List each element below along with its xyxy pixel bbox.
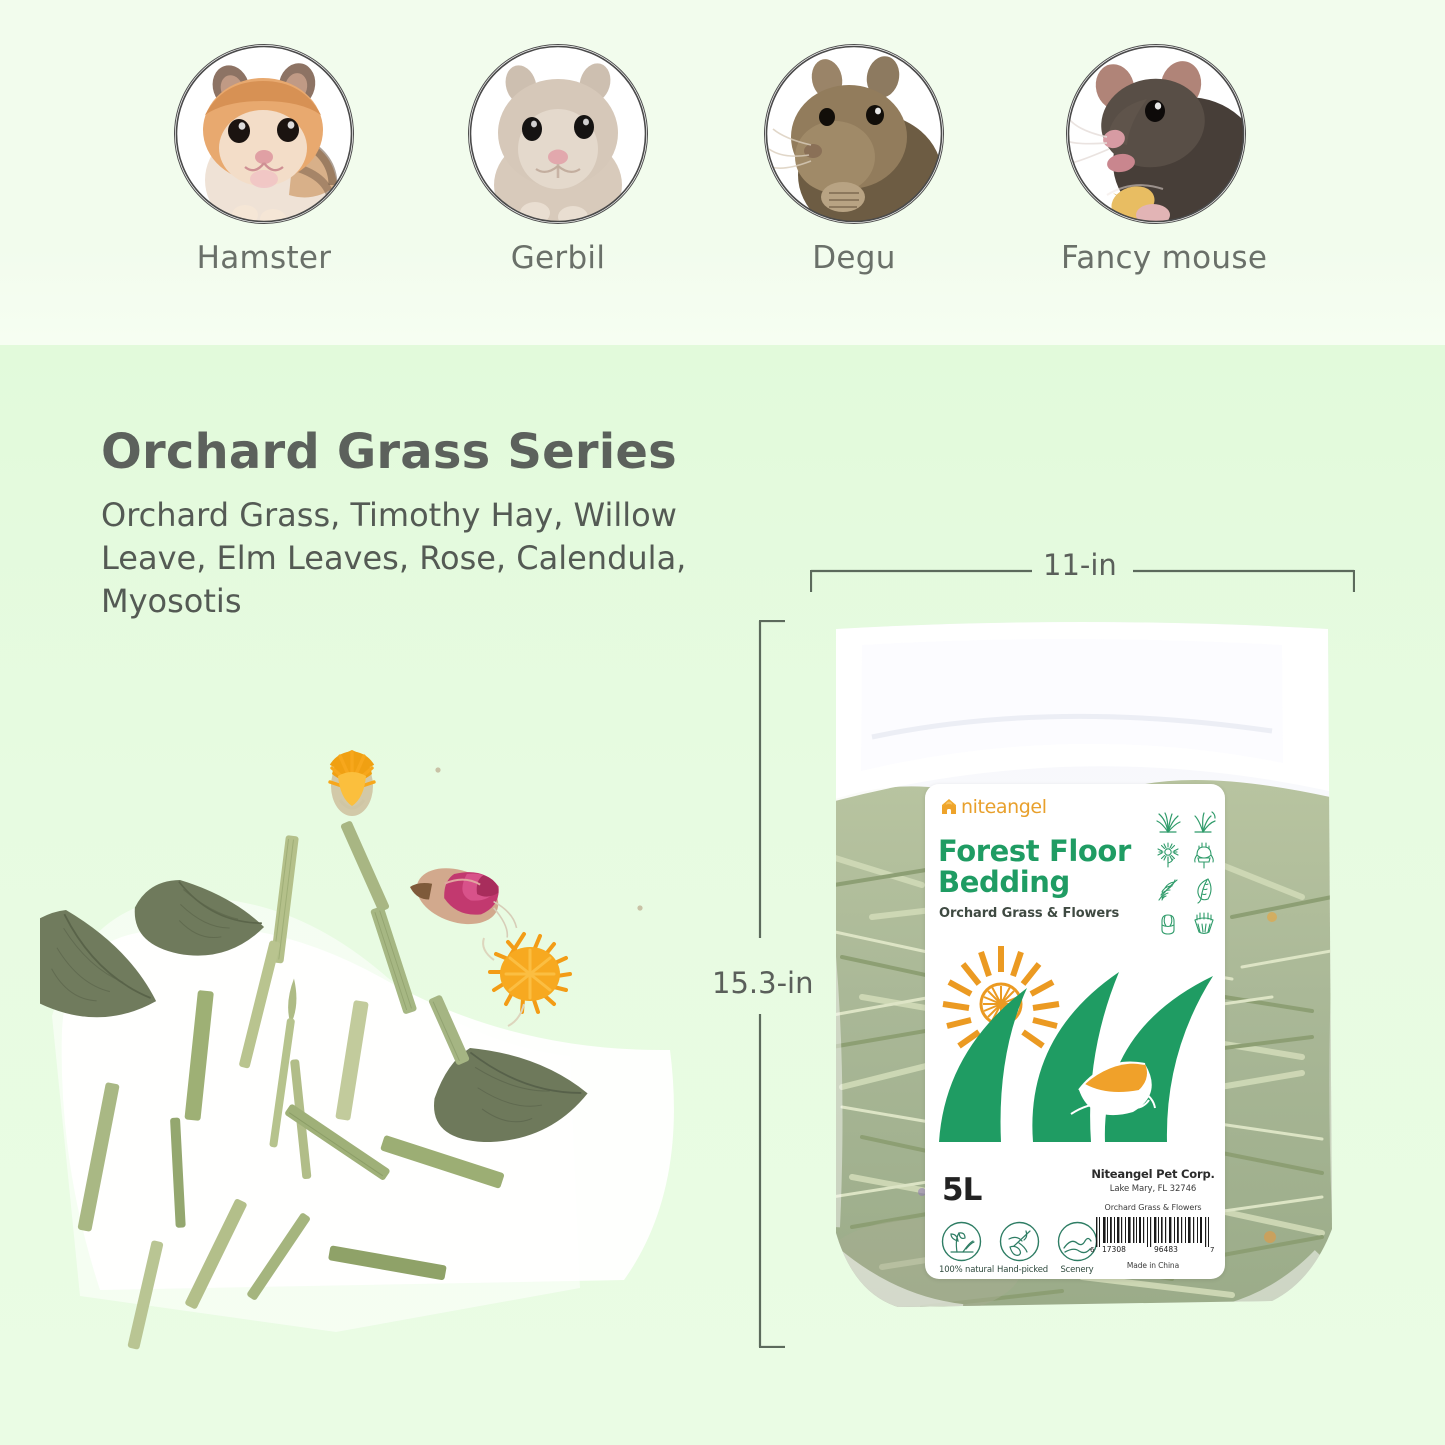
hamster-photo <box>174 44 354 224</box>
brand-name: niteangel <box>961 796 1047 818</box>
animal-item-degu: Degu <box>759 44 949 276</box>
svg-text:6: 6 <box>1090 1246 1095 1253</box>
corporate-info: Niteangel Pet Corp. Lake Mary, FL 32746 … <box>1090 1167 1216 1270</box>
animal-label: Fancy mouse <box>1061 240 1251 276</box>
hand-picking-icon <box>999 1221 1040 1262</box>
degu-photo <box>764 44 944 224</box>
thistle-flower-icon <box>1190 841 1218 869</box>
svg-text:17308: 17308 <box>1102 1245 1126 1253</box>
elm-leaf-icon <box>1190 876 1218 904</box>
ingredient-icon-grid <box>1154 806 1218 939</box>
animal-item-fancy-mouse: Fancy mouse <box>1061 44 1251 276</box>
origin-text: Made in China <box>1090 1261 1216 1270</box>
product-title: Forest Floor Bedding <box>938 836 1131 898</box>
label-artwork <box>929 936 1221 1161</box>
badge-label: Hand-picked <box>997 1265 1041 1275</box>
animal-label: Hamster <box>169 240 359 276</box>
barcode: 6 17308 96483 7 <box>1090 1217 1216 1257</box>
badge-label: 100% natural <box>939 1265 983 1275</box>
brand-logo: niteangel <box>939 796 1047 818</box>
product-infographic: Hamster <box>0 0 1445 1445</box>
ingredients-description: Orchard Grass, Timothy Hay, Willow Leave… <box>101 494 701 623</box>
niteangel-mark-icon <box>939 798 959 816</box>
gerbil-photo <box>468 44 648 224</box>
svg-text:96483: 96483 <box>1154 1245 1178 1253</box>
width-dimension-label: 11-in <box>1043 548 1117 582</box>
rose-bud-icon <box>1154 911 1182 939</box>
page-title: Orchard Grass Series <box>101 424 677 480</box>
product-label: niteangel Forest Floor Bedding Orchard G… <box>925 784 1225 1279</box>
badge-natural: 100% natural <box>939 1221 983 1275</box>
animal-label: Gerbil <box>463 240 653 276</box>
willow-branch-icon <box>1154 876 1182 904</box>
animal-item-hamster: Hamster <box>169 44 359 276</box>
animal-row: Hamster <box>0 0 1445 345</box>
animal-item-gerbil: Gerbil <box>463 44 653 276</box>
corp-name: Niteangel Pet Corp. <box>1090 1167 1216 1181</box>
pet-compatibility-band: Hamster <box>0 0 1445 345</box>
corp-address: Lake Mary, FL 32746 <box>1090 1184 1216 1194</box>
calendula-icon <box>1190 911 1218 939</box>
sprout-in-circle-icon <box>941 1221 982 1262</box>
product-subtitle: Orchard Grass & Flowers <box>939 906 1119 921</box>
grass-tuft-icon <box>1154 806 1182 834</box>
variant-text: Orchard Grass & Flowers <box>1090 1203 1216 1212</box>
product-title-line1: Forest Floor <box>938 836 1131 867</box>
ingredients-photo <box>40 730 700 1380</box>
dandelion-flower-icon <box>1154 841 1182 869</box>
svg-text:7: 7 <box>1210 1246 1214 1253</box>
badge-handpicked: Hand-picked <box>997 1221 1041 1275</box>
height-dimension-label: 15.3-in <box>712 966 813 1000</box>
grass-blades-icon <box>1190 806 1218 834</box>
volume-text: 5L <box>942 1172 981 1208</box>
animal-label: Degu <box>759 240 949 276</box>
product-title-line2: Bedding <box>938 867 1131 898</box>
fancy-mouse-photo <box>1066 44 1246 224</box>
